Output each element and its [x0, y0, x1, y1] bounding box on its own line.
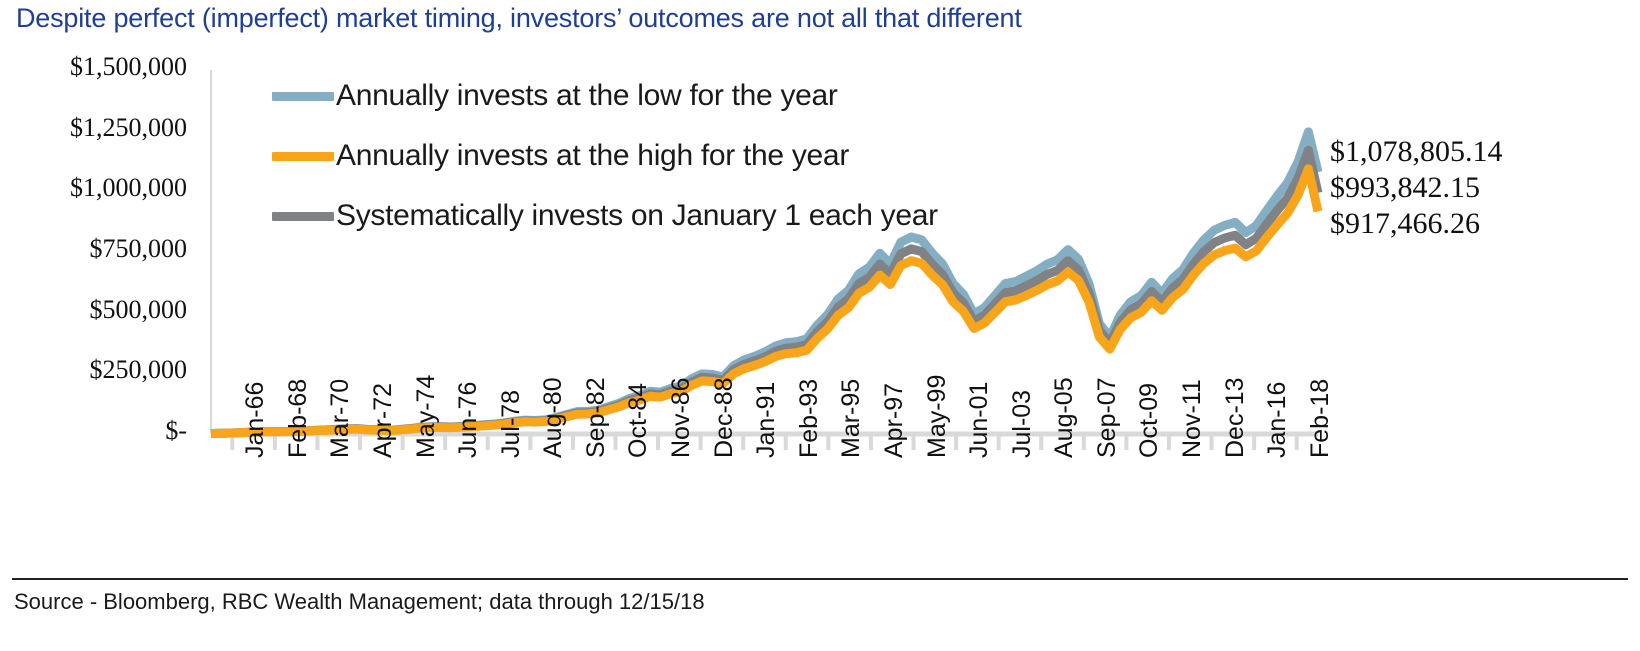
x-axis-tick-label: Feb-18	[1306, 379, 1335, 458]
series-end-value-labels: $1,078,805.14$993,842.15$917,466.26	[1330, 134, 1503, 242]
y-axis-tick-label: $500,000	[0, 295, 187, 325]
x-axis-tick-label: Sep-07	[1093, 377, 1122, 458]
x-axis-tick-label: Jan-91	[752, 382, 781, 458]
x-axis-tick-label: Sep-82	[582, 377, 611, 458]
x-axis-tick-label: Aug-05	[1050, 377, 1079, 458]
x-axis-tick-label: Nov-11	[1178, 379, 1207, 458]
y-axis-tick-label: $1,000,000	[0, 173, 187, 203]
x-axis-tick-label: Aug-80	[539, 377, 568, 458]
x-axis-tick-label: Jul-78	[497, 390, 526, 458]
x-axis-tick-label: Jan-66	[241, 382, 270, 458]
legend-label: Annually invests at the low for the year	[336, 79, 838, 113]
legend-item-low[interactable]: Annually invests at the low for the year	[272, 66, 972, 126]
x-axis-tick-label: Jan-16	[1263, 382, 1292, 458]
x-axis-tick-label: Nov-86	[667, 377, 696, 458]
x-axis-tick-label: Mar-95	[837, 379, 866, 458]
x-axis-tick-label: Oct-09	[1135, 383, 1164, 458]
y-axis-tick-label: $1,500,000	[0, 52, 187, 82]
end-value-systematic: $993,842.15	[1330, 170, 1503, 206]
x-axis-tick-label: Oct-84	[624, 383, 653, 458]
x-axis-tick-label: Feb-93	[795, 379, 824, 458]
footer-divider	[12, 578, 1628, 580]
chart-figure: Despite perfect (imperfect) market timin…	[0, 0, 1640, 651]
legend-swatch-systematic	[272, 212, 334, 221]
x-axis-tick-label: Feb-68	[284, 379, 313, 458]
end-value-low: $1,078,805.14	[1330, 134, 1503, 170]
end-value-high: $917,466.26	[1330, 206, 1503, 242]
y-axis-tick-label: $250,000	[0, 355, 187, 385]
y-axis-tick-label: $-	[0, 416, 187, 446]
source-note: Source - Bloomberg, RBC Wealth Managemen…	[14, 589, 705, 615]
legend-item-high[interactable]: Annually invests at the high for the yea…	[272, 126, 972, 186]
x-axis-tick-label: Jul-03	[1008, 390, 1037, 458]
legend-swatch-low	[272, 92, 334, 101]
y-axis-tick-label: $1,250,000	[0, 113, 187, 143]
x-axis-tick-label: May-99	[923, 375, 952, 458]
x-axis-tick-label: Jun-01	[965, 382, 994, 458]
x-axis-tick-label: Apr-72	[369, 383, 398, 458]
x-axis-tick-label: May-74	[412, 375, 441, 458]
legend-label: Systematically invests on January 1 each…	[336, 199, 938, 233]
x-axis-tick-label: Jun-76	[454, 382, 483, 458]
chart-legend: Annually invests at the low for the year…	[272, 66, 972, 246]
x-axis-tick-label: Apr-97	[880, 383, 909, 458]
x-axis-tick-label: Dec-88	[710, 377, 739, 458]
x-axis-tick-label: Dec-13	[1221, 377, 1250, 458]
y-axis-tick-label: $750,000	[0, 234, 187, 264]
legend-swatch-high	[272, 152, 334, 161]
legend-label: Annually invests at the high for the yea…	[336, 139, 849, 173]
x-axis-tick-label: Mar-70	[326, 379, 355, 458]
legend-item-systematic[interactable]: Systematically invests on January 1 each…	[272, 186, 972, 246]
